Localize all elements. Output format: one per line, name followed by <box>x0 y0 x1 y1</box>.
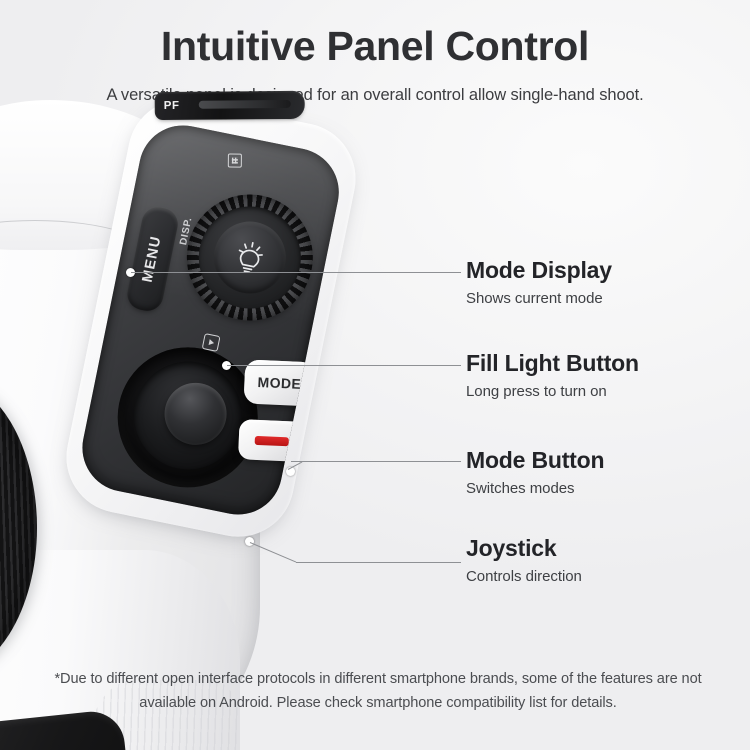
mode-display-text: PF <box>164 100 180 112</box>
menu-button[interactable]: MENU <box>125 205 181 314</box>
callout-subtitle: Shows current mode <box>466 290 612 307</box>
screen-icon <box>228 154 242 168</box>
callout-mode-display: Mode Display Shows current mode <box>466 258 612 307</box>
callout-fill-light-button: Fill Light Button Long press to turn on <box>466 351 639 400</box>
callout-joystick: Joystick Controls direction <box>466 536 582 585</box>
mode-button-label: MODE <box>257 374 301 392</box>
mode-display-bar <box>199 100 291 109</box>
leader-line-mode-button <box>291 461 461 462</box>
menu-button-label: MENU <box>140 234 165 283</box>
infographic-page: Intuitive Panel Control A versatile pane… <box>0 0 750 750</box>
footnote-line-1: *Due to different open interface protoco… <box>28 668 728 692</box>
callout-title: Fill Light Button <box>466 351 639 375</box>
joystick[interactable] <box>105 335 270 500</box>
fill-light-dial[interactable] <box>176 183 325 332</box>
leader-line-mode-display <box>131 272 461 273</box>
callout-mode-button: Mode Button Switches modes <box>466 448 604 497</box>
callout-title: Joystick <box>466 536 582 560</box>
page-subtitle: A versatile panel is designed for an ove… <box>0 86 750 105</box>
leader-line-joystick <box>296 562 461 563</box>
callout-subtitle: Switches modes <box>466 480 604 497</box>
leader-line-fill-light <box>227 365 461 366</box>
page-title: Intuitive Panel Control <box>0 24 750 69</box>
footnote: *Due to different open interface protoco… <box>28 668 728 715</box>
callout-subtitle: Long press to turn on <box>466 383 639 400</box>
callout-title: Mode Display <box>466 258 612 282</box>
mode-display: PF <box>155 91 305 120</box>
callout-title: Mode Button <box>466 448 604 472</box>
callout-subtitle: Controls direction <box>466 568 582 585</box>
record-stripe-icon <box>255 435 289 445</box>
footnote-line-2: available on Android. Please check smart… <box>28 692 728 716</box>
